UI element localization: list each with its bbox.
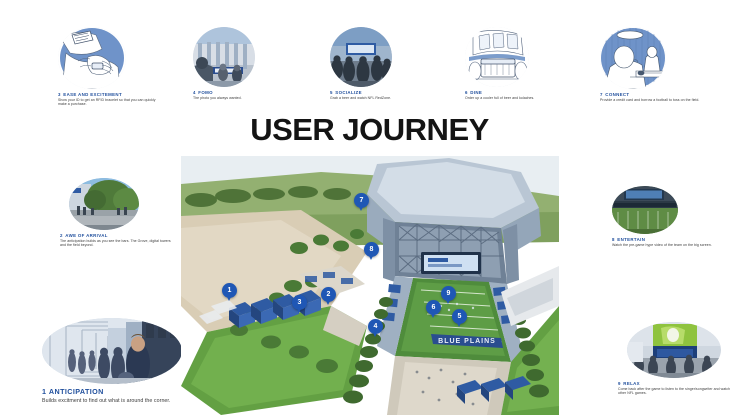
field-wordmark: BLUE PLAINS [438, 338, 496, 345]
photo-corridor-crowd [42, 318, 182, 384]
step-7-number: 7 [600, 92, 603, 97]
map-pin-7-label: 7 [360, 197, 364, 204]
step-6-title: 6DINE [465, 90, 565, 95]
step-3-caption: 3EASE AND EXCITEMENT Show your ID to get… [58, 92, 163, 106]
step-9-desc: Come back after the game to listen to th… [618, 387, 730, 395]
step-8-number: 8 [612, 237, 615, 242]
step-5-media [330, 27, 392, 87]
journey-step-5[interactable]: 5SOCIALIZE Grab a beer and watch NFL Red… [330, 27, 430, 100]
step-6-desc: Order up a cooler full of beer and kolac… [465, 96, 565, 100]
step-2-title: 2AWE OF ARRIVAL [60, 233, 175, 238]
step-8-desc: Watch the pre-game hype video of the tea… [612, 243, 722, 247]
photo-photo-booth [193, 27, 255, 87]
map-pin-6[interactable]: 6 [426, 300, 441, 315]
photo-stage-lounge [627, 322, 721, 378]
step-4-title: 4FOMO [193, 90, 293, 95]
map-pin-3[interactable]: 3 [292, 295, 307, 310]
step-1-caption: 1ANTICIPATION Builds excitment to find o… [42, 388, 194, 405]
step-8-caption: 8ENTERTAIN Watch the pre-game hype video… [612, 237, 722, 247]
aerial-stadium-site-rendering: BLUE PLAINS [181, 156, 559, 415]
map-pin-8[interactable]: 8 [364, 242, 379, 257]
map-pin-8-label: 8 [370, 246, 374, 253]
map-pin-9[interactable]: 9 [441, 286, 456, 301]
map-pin-1-label: 1 [228, 287, 232, 294]
step-8-title: 8ENTERTAIN [612, 237, 722, 242]
journey-step-6[interactable]: 6DINE Order up a cooler full of beer and… [465, 27, 565, 100]
step-5-desc: Grab a beer and watch NFL RedZone. [330, 96, 430, 100]
step-5-number: 5 [330, 90, 333, 95]
step-2-desc: The anticipation builds as you see the b… [60, 239, 175, 247]
map-pin-9-label: 9 [447, 290, 451, 297]
step-2-media [69, 178, 139, 230]
step-6-caption: 6DINE Order up a cooler full of beer and… [465, 90, 565, 100]
map-pin-2-label: 2 [327, 291, 331, 298]
step-9-title: 9RELAX [618, 381, 730, 386]
step-1-media [42, 318, 182, 384]
illustration-cooler-order [465, 27, 529, 87]
map-pin-4[interactable]: 4 [368, 319, 383, 334]
step-6-media [465, 27, 529, 87]
step-9-caption: 9RELAX Come back after the game to liste… [618, 381, 730, 395]
step-1-number: 1 [42, 387, 46, 396]
illustration-counter-service [600, 27, 666, 89]
step-4-media [193, 27, 255, 87]
step-5-title: 5SOCIALIZE [330, 90, 430, 95]
map-pin-4-label: 4 [374, 323, 378, 330]
step-7-media [600, 27, 666, 89]
map-pin-2[interactable]: 2 [321, 287, 336, 302]
map-pin-1[interactable]: 1 [222, 283, 237, 298]
step-2-caption: 2AWE OF ARRIVAL The anticipation builds … [60, 233, 175, 247]
step-9-media [627, 322, 721, 378]
render-artwork: BLUE PLAINS [181, 156, 559, 415]
map-pin-7[interactable]: 7 [354, 193, 369, 208]
step-4-desc: The photo you always wanted. [193, 96, 293, 100]
illustration-rfid-bracelet [58, 27, 126, 89]
page-title: USER JOURNEY [0, 112, 739, 148]
journey-step-1[interactable]: 1ANTICIPATION Builds excitment to find o… [42, 318, 194, 405]
step-8-media [612, 186, 678, 234]
step-4-number: 4 [193, 90, 196, 95]
journey-step-8[interactable]: 8ENTERTAIN Watch the pre-game hype video… [610, 186, 722, 247]
step-4-caption: 4FOMO The photo you always wanted. [193, 90, 293, 100]
user-journey-board: 3EASE AND EXCITEMENT Show your ID to get… [0, 0, 739, 415]
journey-step-3[interactable]: 3EASE AND EXCITEMENT Show your ID to get… [58, 27, 163, 106]
photo-plaza-trees [69, 178, 139, 230]
step-3-title: 3EASE AND EXCITEMENT [58, 92, 163, 97]
step-7-title: 7CONNECT [600, 92, 705, 97]
step-3-media [58, 27, 126, 89]
map-pin-5-label: 5 [458, 313, 462, 320]
map-pin-5[interactable]: 5 [452, 309, 467, 324]
step-7-desc: Provide a credit card and borrow a footb… [600, 98, 705, 102]
map-pin-6-label: 6 [432, 304, 436, 311]
step-2-number: 2 [60, 233, 63, 238]
step-3-number: 3 [58, 92, 61, 97]
step-6-number: 6 [465, 90, 468, 95]
step-1-desc: Builds excitment to find out what is aro… [42, 398, 194, 405]
step-5-caption: 5SOCIALIZE Grab a beer and watch NFL Red… [330, 90, 430, 100]
journey-step-4[interactable]: 4FOMO The photo you always wanted. [193, 27, 293, 100]
journey-step-7[interactable]: 7CONNECT Provide a credit card and borro… [600, 27, 705, 102]
step-1-title: 1ANTICIPATION [42, 388, 194, 396]
step-7-caption: 7CONNECT Provide a credit card and borro… [600, 92, 705, 102]
photo-bar-crowd [330, 27, 392, 87]
step-9-number: 9 [618, 381, 621, 386]
journey-step-9[interactable]: 9RELAX Come back after the game to liste… [618, 322, 730, 395]
journey-step-2[interactable]: 2AWE OF ARRIVAL The anticipation builds … [57, 178, 175, 247]
step-3-desc: Show your ID to get an RFID bracelet so … [58, 98, 163, 106]
photo-field-bigscreen [612, 186, 678, 234]
map-pin-3-label: 3 [298, 299, 302, 306]
